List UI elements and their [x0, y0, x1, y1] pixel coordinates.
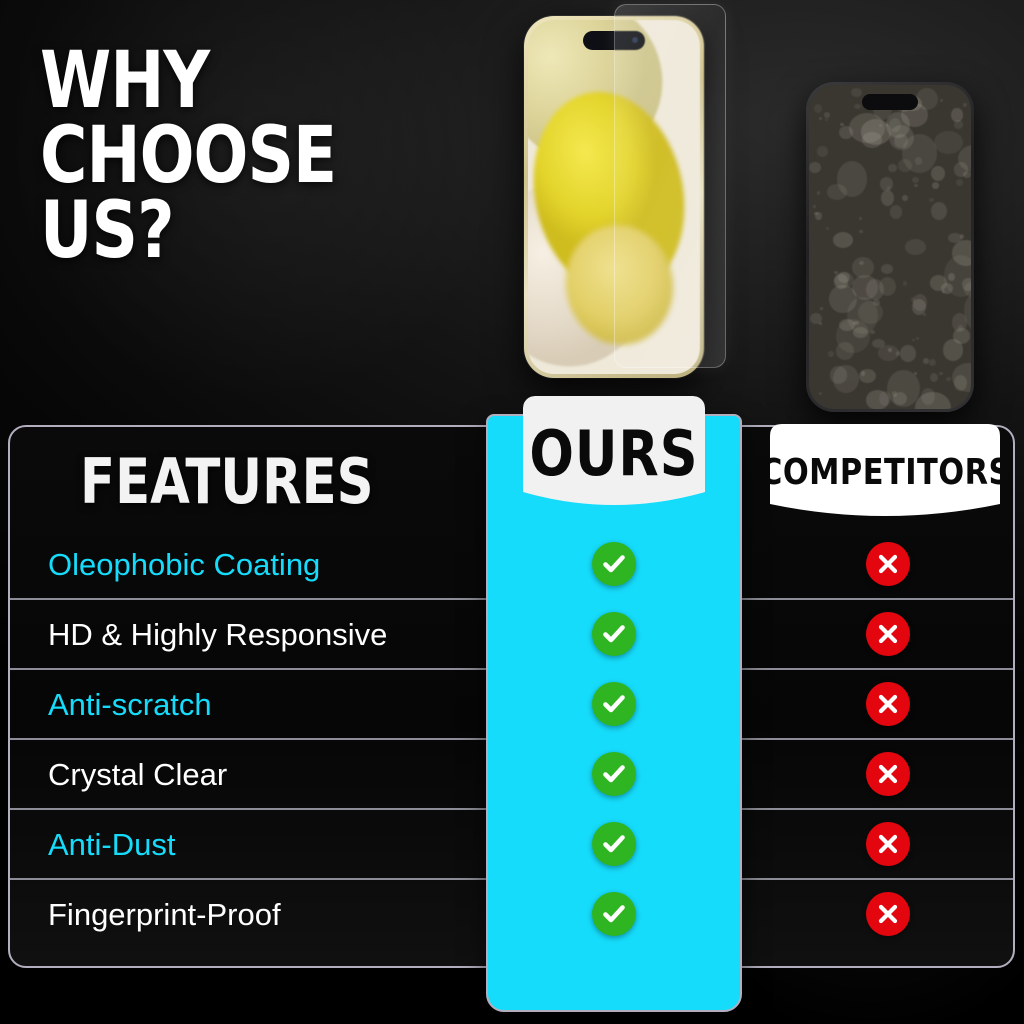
smudge-blob [851, 88, 862, 97]
smudge-blob [940, 99, 943, 103]
check-icon [592, 542, 636, 586]
smudge-blob [894, 134, 907, 148]
infographic-canvas: WHY CHOOSE US? FEATURES Oleophobic Coati… [0, 0, 1024, 1024]
smudge-blob [914, 184, 918, 187]
smudge-blob [830, 366, 847, 383]
smudge-blob [813, 205, 816, 207]
feature-label: Anti-scratch [48, 687, 212, 723]
headline-line-2: CHOOSE [40, 119, 426, 194]
smudge-blob [819, 117, 822, 120]
cross-icon [866, 542, 910, 586]
smudge-blob [953, 328, 970, 343]
smudge-blob [833, 232, 854, 248]
check-icon [592, 892, 636, 936]
smudge-blob [819, 392, 822, 395]
smudge-blob [902, 195, 907, 201]
smudge-blob [916, 88, 938, 110]
cross-icon [866, 682, 910, 726]
smudge-blob [930, 373, 938, 382]
smudge-blob [839, 126, 853, 140]
smudge-blob [834, 272, 854, 289]
smudge-blob [878, 345, 899, 361]
smudge-blob [912, 339, 915, 341]
dynamic-island-icon [862, 94, 918, 110]
smudge-blob [881, 264, 893, 275]
page-title: WHY CHOOSE US? [40, 44, 426, 269]
smudge-blob [954, 120, 963, 128]
smudge-blob [852, 257, 874, 278]
smudge-blob [892, 391, 898, 396]
competitors-header-label: COMPETITORS [760, 452, 1011, 493]
cross-icon [866, 612, 910, 656]
cross-icon [866, 822, 910, 866]
smudge-blob [859, 230, 863, 233]
smudge-blob [939, 372, 943, 375]
smudge-blob [934, 131, 963, 154]
smudge-blob [826, 227, 829, 230]
headline-line-3: US? [40, 194, 426, 269]
cross-icon [866, 892, 910, 936]
check-icon [592, 752, 636, 796]
competitor-phone-screen [809, 85, 971, 409]
smudge-blob [859, 217, 862, 220]
smudge-blob [929, 198, 933, 202]
smudge-blob [923, 313, 926, 317]
smudge-blob [888, 164, 896, 172]
headline-line-1: WHY [40, 44, 426, 119]
check-icon [592, 822, 636, 866]
smudge-blob [956, 179, 963, 186]
competitor-phone-image [806, 82, 974, 412]
smudge-blob [929, 359, 936, 366]
smudge-blob [963, 171, 971, 177]
smudge-blob [820, 307, 824, 310]
smudge-blob [916, 337, 919, 340]
smudge-blob [946, 377, 951, 381]
smudge-blob [905, 239, 926, 255]
feature-label: Fingerprint-Proof [48, 897, 281, 933]
smudge-blob [963, 103, 967, 106]
smudge-blob [912, 177, 919, 183]
competitors-header-badge: COMPETITORS [770, 424, 1000, 520]
smudge-blob [931, 166, 945, 181]
smudge-blob [960, 234, 964, 239]
smudge-blob [829, 285, 856, 313]
cross-icon [866, 752, 910, 796]
smudge-blob [887, 186, 891, 189]
ours-header-label: OURS [529, 417, 698, 490]
smudge-blob [958, 325, 963, 330]
smudge-blob [923, 358, 929, 364]
smudge-blob [817, 146, 827, 157]
smudge-blob [824, 112, 829, 118]
smudge-blob [828, 351, 834, 357]
smudge-blob [814, 104, 823, 113]
smudge-blob [853, 321, 859, 326]
smudge-blob [814, 212, 817, 215]
smudge-blob [903, 281, 908, 285]
smudge-blob [827, 184, 848, 200]
screen-protector-overlay [614, 4, 726, 368]
ours-header-badge: OURS [523, 396, 705, 510]
smudge-blob [854, 104, 861, 110]
features-header: FEATURES [80, 445, 374, 518]
smudge-blob [817, 191, 820, 194]
check-icon [592, 612, 636, 656]
feature-label: Anti-Dust [48, 827, 175, 863]
smudge-blob [941, 283, 953, 294]
smudge-blob [809, 162, 821, 174]
smudge-blob [900, 345, 916, 363]
smudge-blob [866, 279, 883, 300]
smudge-blob [932, 182, 939, 188]
smudge-blob [931, 202, 947, 220]
feature-label: Oleophobic Coating [48, 547, 320, 583]
smudge-blob [866, 390, 889, 409]
smudge-blob [825, 118, 828, 121]
check-icon [592, 682, 636, 726]
smudge-blob [890, 205, 902, 218]
feature-label: HD & Highly Responsive [48, 617, 387, 653]
smudge-blob [881, 190, 894, 206]
feature-label: Crystal Clear [48, 757, 227, 793]
